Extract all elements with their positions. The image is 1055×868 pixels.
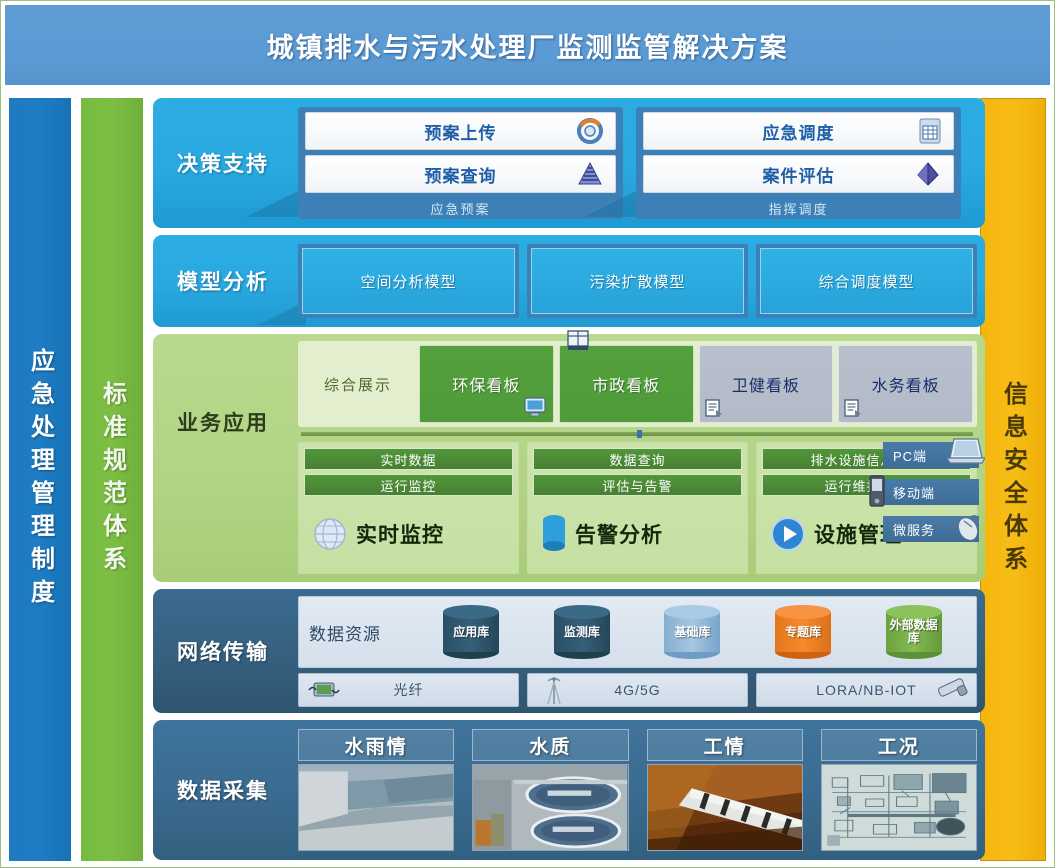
layer-decision-support: 决策支持 预案上传 预案查询 — [153, 98, 985, 228]
window-icon — [566, 330, 590, 352]
business-column-monitoring: 实时数据 运行监控 实时监控 — [298, 442, 519, 574]
kanban-municipal[interactable]: 市政看板 — [559, 345, 694, 423]
decision-item-case-assessment[interactable]: 案件评估 — [643, 155, 954, 193]
cylinder-shape: 外部数据库 — [886, 605, 942, 659]
fiber-cable-icon — [307, 678, 341, 702]
endpoint-microservice-label: 微服务 — [893, 520, 935, 539]
layer-network-transmission-label: 网络传输 — [153, 589, 293, 713]
database-external-label: 外部数据库 — [886, 605, 942, 659]
kanban-environment[interactable]: 环保看板 — [419, 345, 554, 423]
solution-architecture-diagram: 城镇排水与污水处理厂监测监管解决方案 应急处理管理制度 标准规范体系 信息安全体… — [0, 0, 1055, 868]
channel-4g5g[interactable]: 4G/5G — [527, 673, 748, 707]
layer-decision-support-label: 决策支持 — [153, 98, 293, 228]
antenna-icon — [542, 676, 566, 706]
database-external[interactable]: 外部数据库 — [861, 605, 966, 659]
database-thematic-label: 专题库 — [775, 605, 831, 659]
pillar-standards-system-label: 标准规范体系 — [95, 381, 130, 579]
data-card-rainfall[interactable]: 水雨情 — [298, 729, 454, 851]
model-box-spatial[interactable]: 空间分析模型 — [298, 244, 519, 318]
comprehensive-display-label: 综合展示 — [302, 345, 414, 423]
decision-group-emergency-plan-footer: 应急预案 — [305, 199, 616, 218]
sedimentation-tanks-photo — [472, 764, 628, 851]
channel-fiber[interactable]: 光纤 — [298, 673, 519, 707]
scada-schematic-photo — [821, 764, 977, 851]
decision-item-emergency-dispatch[interactable]: 应急调度 — [643, 112, 954, 150]
model-box-spatial-label: 空间分析模型 — [302, 248, 515, 314]
pillar-emergency-management: 应急处理管理制度 — [9, 98, 71, 861]
model-box-row: 空间分析模型 污染扩散模型 综合调度模型 — [298, 244, 977, 318]
model-box-integrated-dispatch[interactable]: 综合调度模型 — [756, 244, 977, 318]
cylinder-shape: 监测库 — [554, 605, 610, 659]
buried-pipeline-photo — [647, 764, 803, 851]
decision-group-emergency-plan: 预案上传 预案查询 — [298, 107, 623, 219]
decision-item-case-assessment-label: 案件评估 — [763, 162, 835, 187]
endpoint-pc-label: PC端 — [893, 446, 927, 465]
pillar-standards-system: 标准规范体系 — [81, 98, 143, 861]
database-basic-label: 基础库 — [664, 605, 720, 659]
data-card-operating-status[interactable]: 工况 — [821, 729, 977, 851]
transmission-channel-row: 光纤 4G/5G LORA/NB-IOT — [298, 673, 977, 707]
pillar-information-security-label: 信息安全体系 — [996, 381, 1031, 579]
pillar-emergency-management-label: 应急处理管理制度 — [23, 348, 58, 612]
river-channel-photo — [298, 764, 454, 851]
kanban-water-affairs-label: 水务看板 — [872, 372, 940, 396]
business-tag-assessment-alarm[interactable]: 评估与告警 — [533, 474, 742, 496]
kanban-municipal-label: 市政看板 — [592, 372, 660, 396]
model-box-pollution-diffusion[interactable]: 污染扩散模型 — [527, 244, 748, 318]
layer-network-transmission: 网络传输 数据资源 应用库 监测库 — [153, 589, 985, 713]
kanban-health-label: 卫健看板 — [732, 372, 800, 396]
mouse-icon — [953, 514, 983, 542]
business-columns: 实时数据 运行监控 实时监控 — [298, 442, 977, 574]
data-resource-row: 数据资源 应用库 监测库 — [298, 596, 977, 668]
layer-model-analysis: 模型分析 空间分析模型 污染扩散模型 综合调度模型 — [153, 235, 985, 327]
decision-item-plan-query[interactable]: 预案查询 — [305, 155, 616, 193]
pyramid-icon — [577, 162, 603, 186]
business-tag-operation-monitoring[interactable]: 运行监控 — [304, 474, 513, 496]
database-application-label: 应用库 — [443, 605, 499, 659]
arrow-shape — [584, 191, 636, 217]
diamond-pyramid-icon — [915, 161, 941, 187]
business-feature-alarm-analysis-label: 告警分析 — [575, 519, 663, 549]
business-feature-realtime-monitoring-label: 实时监控 — [356, 519, 444, 549]
laptop-icon — [945, 436, 985, 468]
channel-lora-nbiot[interactable]: LORA/NB-IOT — [756, 673, 977, 707]
layer-business-application: 业务应用 综合展示 环保看板 市政看板 — [153, 334, 985, 582]
kanban-water-affairs[interactable]: 水务看板 — [838, 345, 973, 423]
business-feature-realtime-monitoring[interactable]: 实时监控 — [304, 500, 513, 568]
data-card-water-quality[interactable]: 水质 — [472, 729, 628, 851]
database-monitoring[interactable]: 监测库 — [530, 605, 635, 659]
data-card-works-condition[interactable]: 工情 — [647, 729, 803, 851]
database-application[interactable]: 应用库 — [419, 605, 524, 659]
model-box-integrated-dispatch-label: 综合调度模型 — [760, 248, 973, 314]
endpoint-mobile[interactable]: 移动端 — [883, 479, 979, 505]
business-tag-realtime-data[interactable]: 实时数据 — [304, 448, 513, 470]
kanban-environment-label: 环保看板 — [452, 372, 520, 396]
globe-icon — [310, 514, 350, 554]
database-monitoring-label: 监测库 — [554, 605, 610, 659]
data-card-works-condition-label: 工情 — [647, 729, 803, 761]
report-icon — [704, 398, 724, 418]
decision-item-emergency-dispatch-label: 应急调度 — [763, 119, 835, 144]
channel-4g5g-label: 4G/5G — [614, 682, 660, 698]
endpoint-mobile-label: 移动端 — [893, 483, 935, 502]
center-stack: 决策支持 预案上传 预案查询 — [153, 98, 985, 861]
decision-item-plan-upload[interactable]: 预案上传 — [305, 112, 616, 150]
business-feature-alarm-analysis[interactable]: 告警分析 — [533, 500, 742, 568]
channel-fiber-label: 光纤 — [394, 680, 424, 700]
phone-icon — [867, 475, 887, 507]
page-title: 城镇排水与污水处理厂监测监管解决方案 — [267, 26, 789, 65]
grid-table-icon — [919, 118, 941, 144]
data-card-rainfall-label: 水雨情 — [298, 729, 454, 761]
decision-item-plan-query-label: 预案查询 — [425, 162, 497, 187]
monitor-icon — [523, 396, 547, 418]
client-endpoints: PC端 移动端 — [883, 442, 979, 553]
data-card-water-quality-label: 水质 — [472, 729, 628, 761]
refresh-cycle-icon — [577, 118, 603, 144]
divider-marker — [637, 430, 642, 438]
business-tag-data-query[interactable]: 数据查询 — [533, 448, 742, 470]
sensor-icon — [932, 674, 972, 704]
pillar-information-security: 信息安全体系 — [980, 98, 1046, 861]
cylinder-shape: 应用库 — [443, 605, 499, 659]
endpoint-microservice[interactable]: 微服务 — [883, 516, 979, 542]
business-column-alarm: 数据查询 评估与告警 告警分析 — [527, 442, 748, 574]
layer-data-collection-label: 数据采集 — [153, 720, 293, 860]
layer-business-application-label: 业务应用 — [153, 392, 293, 452]
endpoint-pc[interactable]: PC端 — [883, 442, 979, 468]
database-icon — [539, 513, 569, 555]
layer-data-collection: 数据采集 水雨情 — [153, 720, 985, 860]
play-icon — [768, 514, 808, 554]
kanban-row: 综合展示 环保看板 市政看板 — [298, 341, 977, 427]
report-icon — [843, 398, 863, 418]
database-basic[interactable]: 基础库 — [640, 605, 745, 659]
kanban-health[interactable]: 卫健看板 — [699, 345, 834, 423]
cylinder-shape: 基础库 — [664, 605, 720, 659]
data-collection-cards: 水雨情 — [298, 729, 977, 851]
data-card-operating-status-label: 工况 — [821, 729, 977, 761]
data-resource-label: 数据资源 — [309, 620, 413, 645]
model-box-pollution-diffusion-label: 污染扩散模型 — [531, 248, 744, 314]
layer-model-analysis-label: 模型分析 — [153, 235, 293, 327]
decision-group-command-dispatch: 应急调度 案件评估 — [636, 107, 961, 219]
channel-lora-nbiot-label: LORA/NB-IOT — [816, 682, 916, 698]
cylinder-shape: 专题库 — [775, 605, 831, 659]
diagram-header: 城镇排水与污水处理厂监测监管解决方案 — [5, 5, 1050, 85]
decision-item-plan-upload-label: 预案上传 — [425, 119, 497, 144]
divider — [301, 432, 973, 436]
decision-group-command-dispatch-footer: 指挥调度 — [643, 199, 954, 218]
database-thematic[interactable]: 专题库 — [751, 605, 856, 659]
